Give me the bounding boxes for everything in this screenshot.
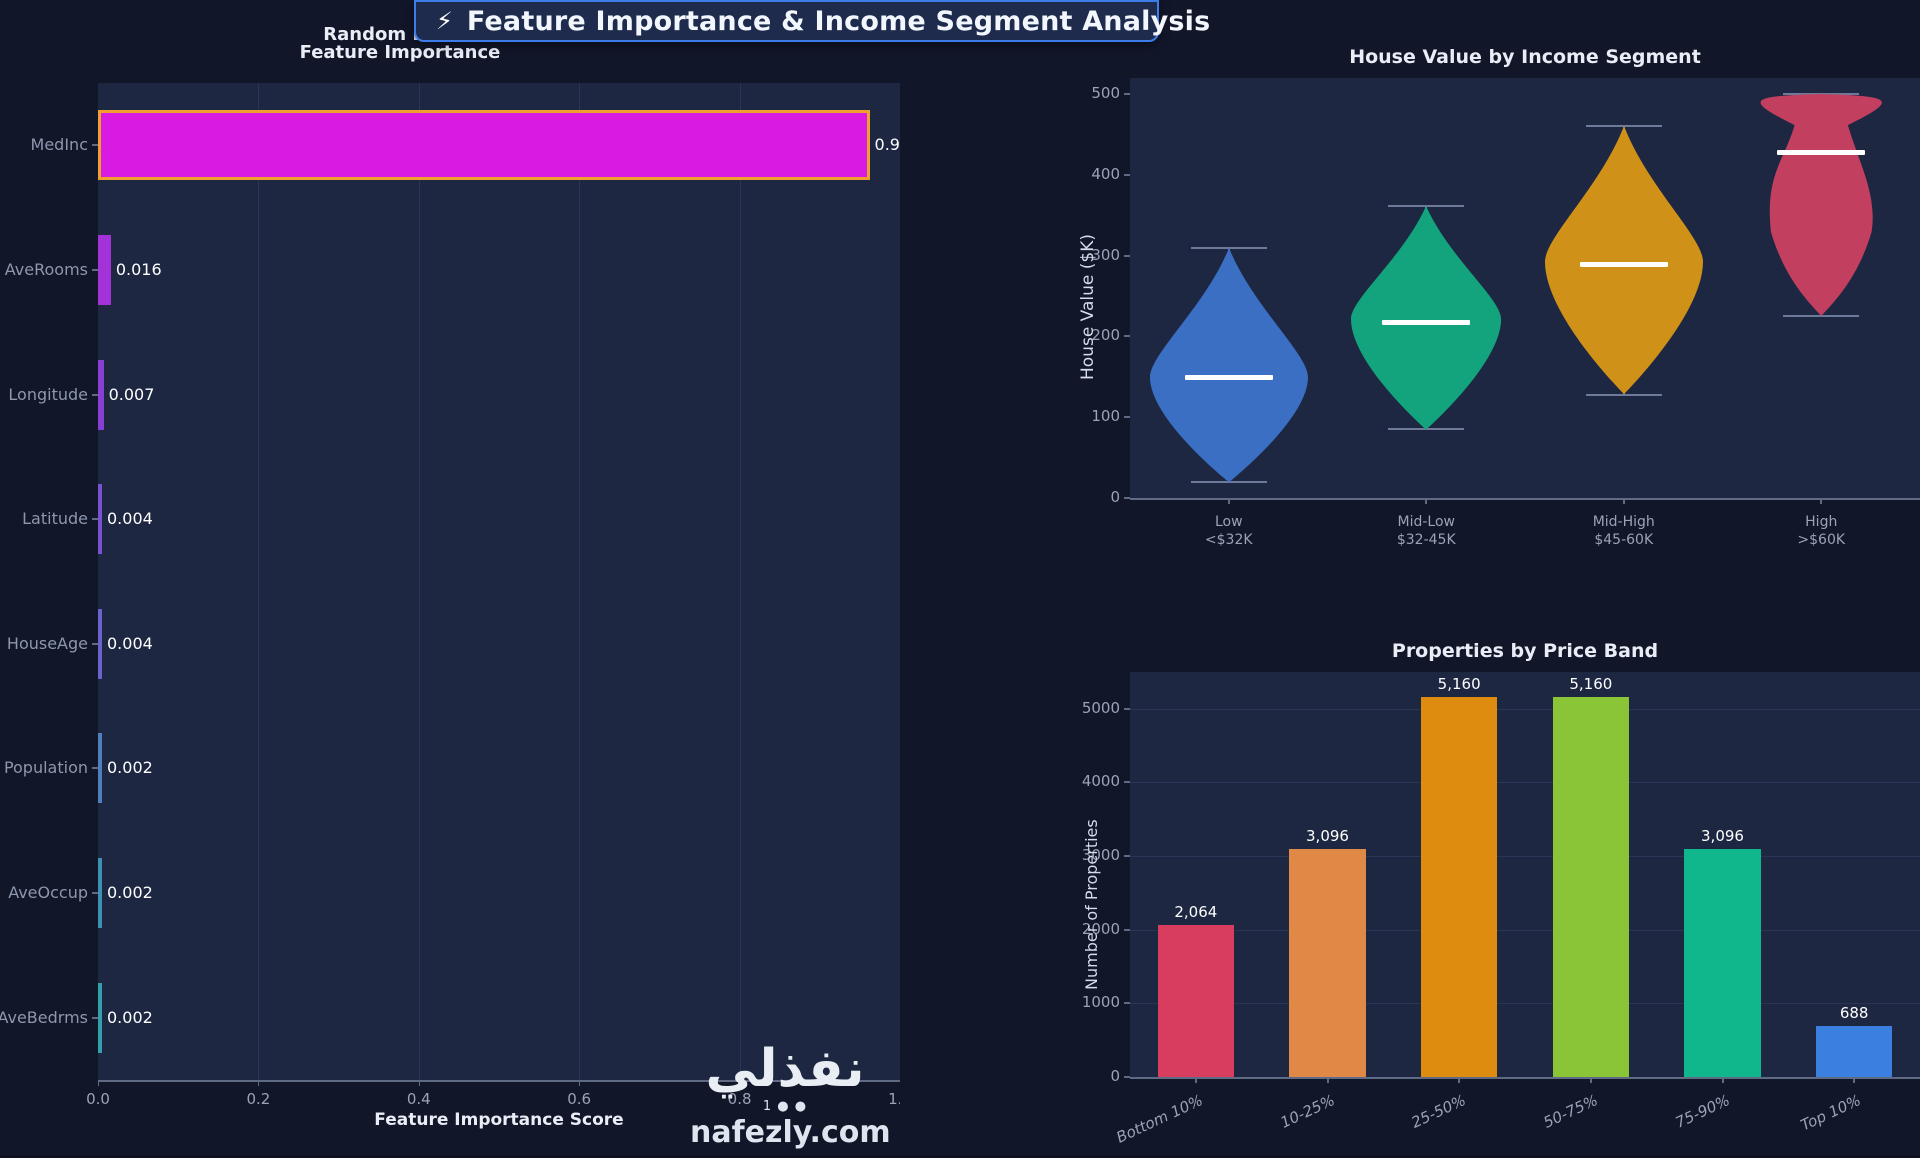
feature-value-label: 0.016: [116, 260, 162, 279]
violin-median-line: [1382, 320, 1470, 325]
bar-xaxis-tickmark: [1590, 1077, 1592, 1083]
bar-yaxis-tick-label: 5000: [1060, 699, 1120, 717]
bar-yaxis-label: Number of Properties: [1082, 819, 1101, 990]
violin-body: [1758, 94, 1885, 316]
violin-chart-title: House Value by Income Segment: [1130, 46, 1920, 68]
violin-xaxis-subcategory: $32-45K: [1346, 532, 1506, 548]
watermark-latin: nafezly.com: [690, 1116, 880, 1149]
violin-yaxis-tick-label: 500: [1068, 84, 1120, 102]
violin-yaxis-tickmark: [1124, 255, 1130, 257]
violin-xaxis-category: Mid-Low: [1346, 514, 1506, 530]
price-band-bar: [1816, 1026, 1892, 1077]
price-band-value-label: 3,096: [1268, 827, 1388, 845]
feature-category-label: Latitude: [0, 509, 88, 528]
bar-xaxis-tickmark: [1853, 1077, 1855, 1083]
bar-gridline: [1130, 930, 1920, 931]
watermark-dots-icon: 1 ● ●: [690, 1099, 880, 1114]
xaxis-gridline: [258, 83, 259, 1080]
violin-yaxis-tickmark: [1124, 93, 1130, 95]
violin-xaxis-tickmark: [1820, 498, 1822, 504]
xaxis-tick-label: 0.4: [399, 1090, 439, 1108]
watermark: نفذلي 1 ● ● nafezly.com: [690, 1043, 880, 1149]
violin-xaxis-tickmark: [1228, 498, 1230, 504]
feature-importance-bar: [98, 983, 102, 1053]
watermark-arabic: نفذلي: [690, 1043, 880, 1095]
feature-category-label: HouseAge: [0, 634, 88, 653]
violin-xaxis-category: Mid-High: [1544, 514, 1704, 530]
feature-value-label: 0.002: [107, 758, 153, 777]
xaxis-tick-label: 0.2: [238, 1090, 278, 1108]
violin-yaxis-tickmark: [1124, 416, 1130, 418]
lightning-bolt-icon: ⚡: [436, 9, 453, 33]
price-band-bar: [1421, 697, 1497, 1077]
bar-chart-title: Properties by Price Band: [1130, 640, 1920, 662]
violin-xaxis-tickmark: [1425, 498, 1427, 504]
bar-xaxis-line: [1130, 1077, 1920, 1079]
price-band-value-label: 688: [1794, 1004, 1914, 1022]
bar-yaxis-tick-label: 0: [1060, 1067, 1120, 1085]
violin-yaxis-tick-label: 400: [1068, 165, 1120, 183]
price-band-value-label: 5,160: [1531, 675, 1651, 693]
violin-xaxis-category: Low: [1149, 514, 1309, 530]
feature-value-label: 0.002: [107, 1008, 153, 1027]
feature-value-label: 0.002: [107, 883, 153, 902]
bar-xaxis-tickmark: [1327, 1077, 1329, 1083]
violin-xaxis-line: [1130, 498, 1920, 500]
violin-xaxis-subcategory: <$32K: [1149, 532, 1309, 548]
feature-importance-bar: [98, 484, 102, 554]
bar-xaxis-tickmark: [1722, 1077, 1724, 1083]
xaxis-gridline: [579, 83, 580, 1080]
price-band-bar: [1158, 925, 1234, 1077]
bar-gridline: [1130, 709, 1920, 710]
violin-xaxis-subcategory: >$60K: [1741, 532, 1901, 548]
xaxis-gridline: [740, 83, 741, 1080]
left-chart-title-line2: Feature Importance: [0, 42, 800, 63]
feature-category-label: AveBedrms: [0, 1008, 88, 1027]
violin-body: [1347, 206, 1505, 430]
analysis-title-banner[interactable]: ⚡ Feature Importance & Income Segment An…: [414, 0, 1159, 42]
price-band-bar: [1289, 849, 1365, 1077]
violin-yaxis-tick-label: 100: [1068, 407, 1120, 425]
feature-value-label: 0.004: [107, 634, 153, 653]
analysis-title-text: Feature Importance & Income Segment Anal…: [467, 6, 1211, 37]
violin-yaxis-tick-label: 0: [1068, 488, 1120, 506]
feature-importance-bar: [98, 360, 104, 430]
feature-importance-bar: [98, 235, 111, 305]
feature-value-label: 0.004: [107, 509, 153, 528]
violin-median-line: [1185, 375, 1273, 380]
bar-gridline: [1130, 856, 1920, 857]
violin-xaxis-subcategory: $45-60K: [1544, 532, 1704, 548]
feature-category-label: AveOccup: [0, 883, 88, 902]
feature-importance-bar: [98, 858, 102, 928]
price-band-value-label: 2,064: [1136, 903, 1256, 921]
feature-importance-plot-area: [98, 83, 900, 1080]
feature-category-label: Longitude: [0, 385, 88, 404]
feature-value-label: 0.007: [109, 385, 155, 404]
bar-xaxis-tickmark: [1195, 1077, 1197, 1083]
price-band-value-label: 5,160: [1399, 675, 1519, 693]
price-band-value-label: 3,096: [1663, 827, 1783, 845]
violin-xaxis-tickmark: [1623, 498, 1625, 504]
feature-importance-bar: [98, 609, 102, 679]
bar-yaxis-tick-label: 1000: [1060, 993, 1120, 1011]
feature-importance-bar: [98, 110, 870, 180]
violin-yaxis-label: House Value ($K): [1078, 234, 1098, 380]
violin-xaxis-category: High: [1741, 514, 1901, 530]
violin-median-line: [1580, 262, 1668, 267]
price-band-bar: [1684, 849, 1760, 1077]
bar-gridline: [1130, 782, 1920, 783]
feature-category-label: AveRooms: [0, 260, 88, 279]
bar-yaxis-tick-label: 4000: [1060, 772, 1120, 790]
price-band-bar: [1553, 697, 1629, 1077]
xaxis-tick-label: 0.0: [78, 1090, 118, 1108]
violin-yaxis-tickmark: [1124, 174, 1130, 176]
xaxis-gridline: [419, 83, 420, 1080]
violin-median-line: [1777, 150, 1865, 155]
feature-category-label: MedInc: [0, 135, 88, 154]
feature-category-label: Population: [0, 758, 88, 777]
violin-body: [1146, 248, 1312, 482]
violin-yaxis-tickmark: [1124, 335, 1130, 337]
feature-importance-bar: [98, 733, 102, 803]
bar-xaxis-tickmark: [1458, 1077, 1460, 1083]
xaxis-tick-label: 0.6: [559, 1090, 599, 1108]
feature-importance-panel: Random Forest Feature Importance 0.00.20…: [0, 0, 900, 1155]
violin-body: [1541, 126, 1707, 394]
